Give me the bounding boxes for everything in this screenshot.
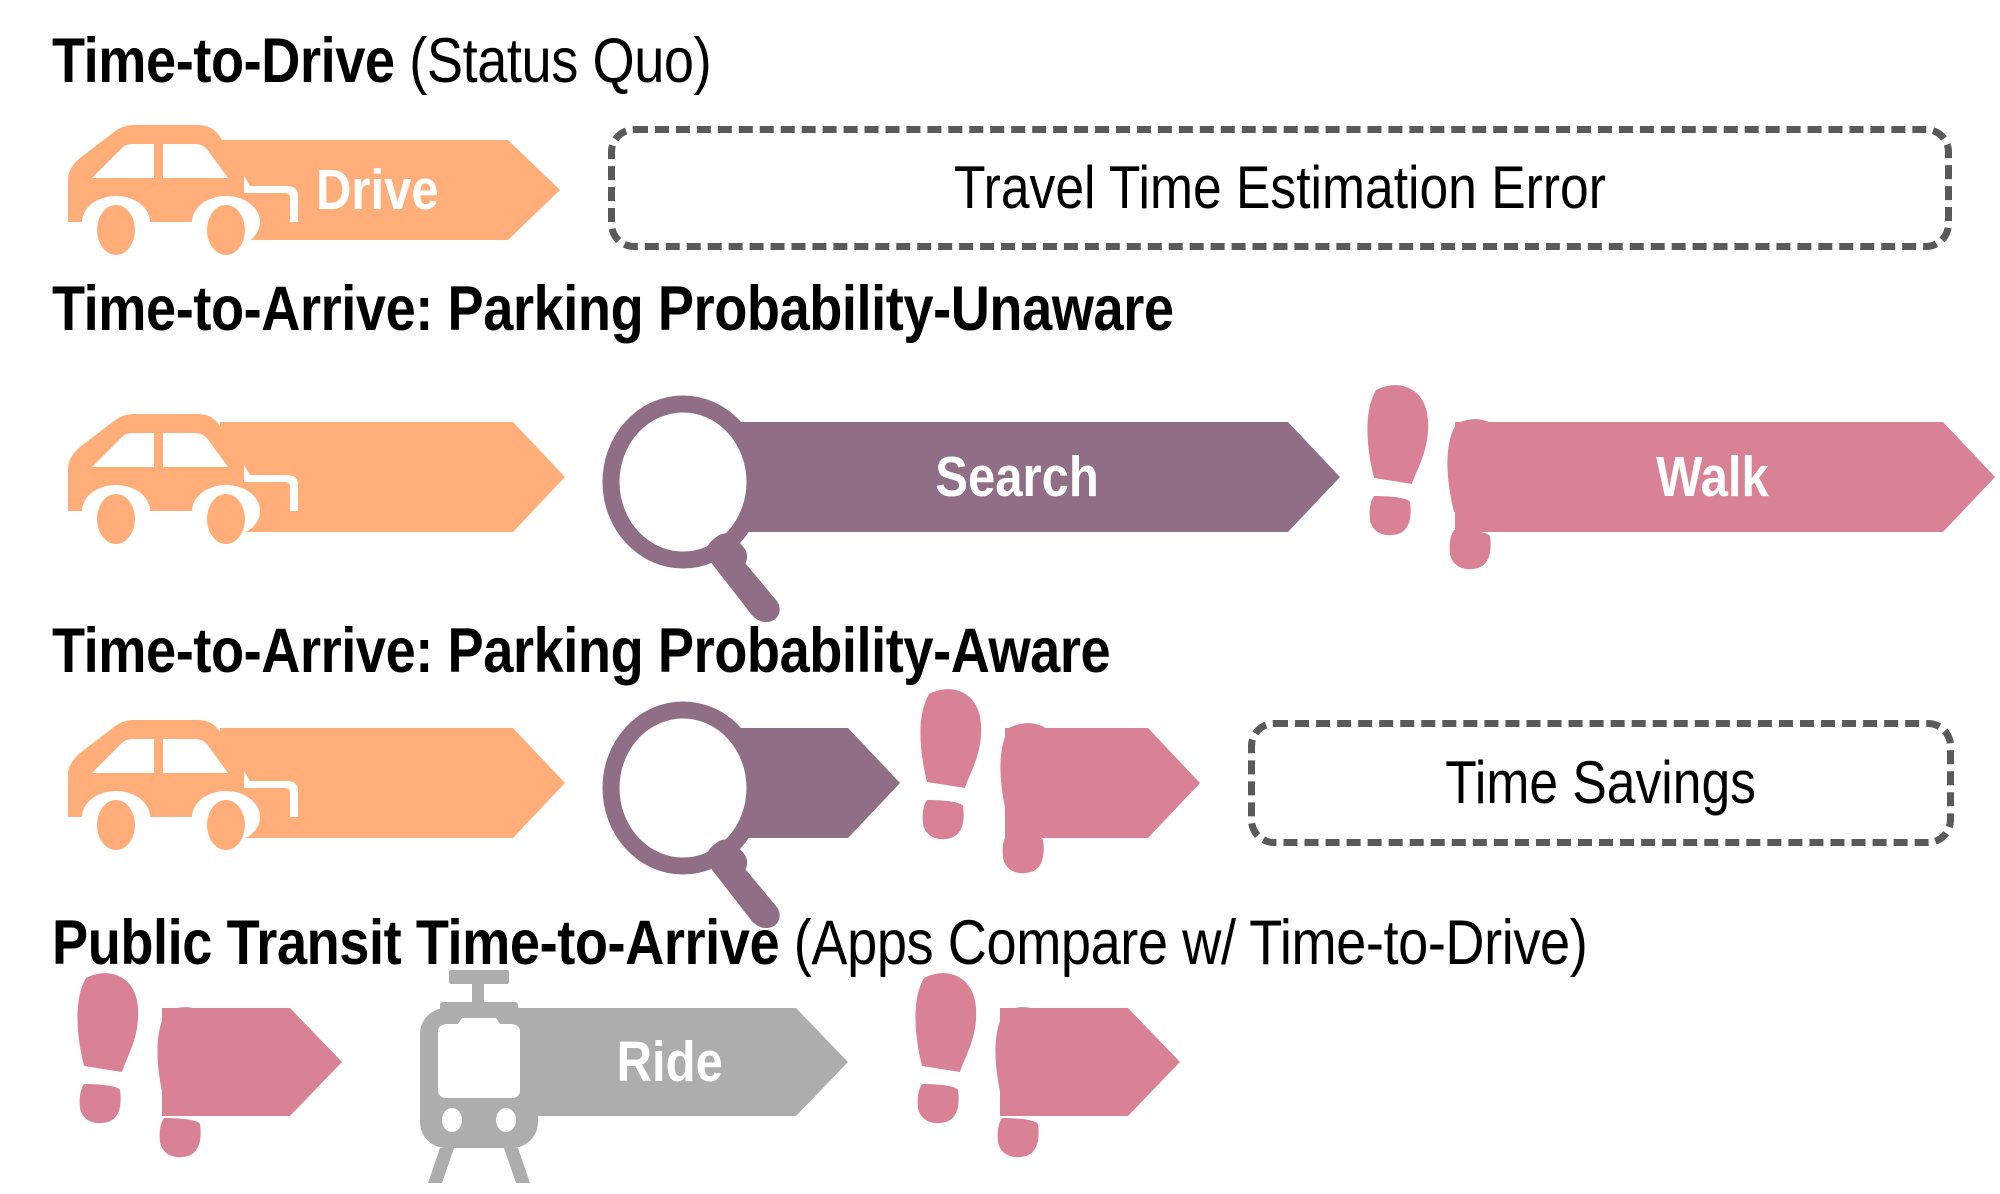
row1-heading: Time-to-Drive (Status Quo): [52, 30, 711, 93]
car-icon: [58, 402, 308, 552]
magnifier-icon: [598, 392, 818, 622]
footprints-icon: [905, 678, 1085, 928]
tram-icon: [404, 968, 574, 1188]
callout-label: Travel Time Estimation Error: [954, 158, 1606, 218]
diagram-canvas: Time-to-Drive (Status Quo) Drive: [0, 0, 2000, 1194]
car-icon: [58, 708, 308, 858]
row1-heading-bold: Time-to-Drive: [52, 26, 395, 96]
walk-arrow-label: Walk: [1656, 449, 1769, 506]
ride-arrow-label: Ride: [617, 1034, 723, 1091]
row2-heading-bold: Time-to-Arrive: Parking Probability-Unaw…: [52, 274, 1174, 344]
row3-heading-bold: Time-to-Arrive: Parking Probability-Awar…: [52, 616, 1110, 686]
row-time-to-drive: Drive: [0, 118, 2000, 258]
walk-arrow-row2[interactable]: Walk: [1455, 422, 1995, 532]
row4-heading: Public Transit Time-to-Arrive (Apps Comp…: [52, 912, 1587, 975]
drive-arrow-label: Drive: [316, 162, 439, 219]
search-arrow-label: Search: [935, 449, 1099, 506]
callout-label: Time Savings: [1446, 753, 1757, 813]
row-parking-unaware: Search Walk: [0, 392, 2000, 622]
callout-time-savings: Time Savings: [1248, 720, 1954, 846]
callout-travel-time-estimation-error: Travel Time Estimation Error: [608, 126, 1952, 250]
row-public-transit: Ride: [0, 990, 2000, 1190]
row-parking-aware: Time Savings: [0, 700, 2000, 930]
footprints-icon: [1352, 374, 1532, 624]
magnifier-icon: [598, 698, 818, 928]
footprints-icon: [900, 962, 1080, 1194]
row1-heading-regular: (Status Quo): [395, 26, 712, 96]
row3-heading: Time-to-Arrive: Parking Probability-Awar…: [52, 620, 1110, 683]
car-icon: [58, 118, 308, 258]
footprints-icon: [62, 962, 242, 1194]
row2-heading: Time-to-Arrive: Parking Probability-Unaw…: [52, 278, 1174, 341]
